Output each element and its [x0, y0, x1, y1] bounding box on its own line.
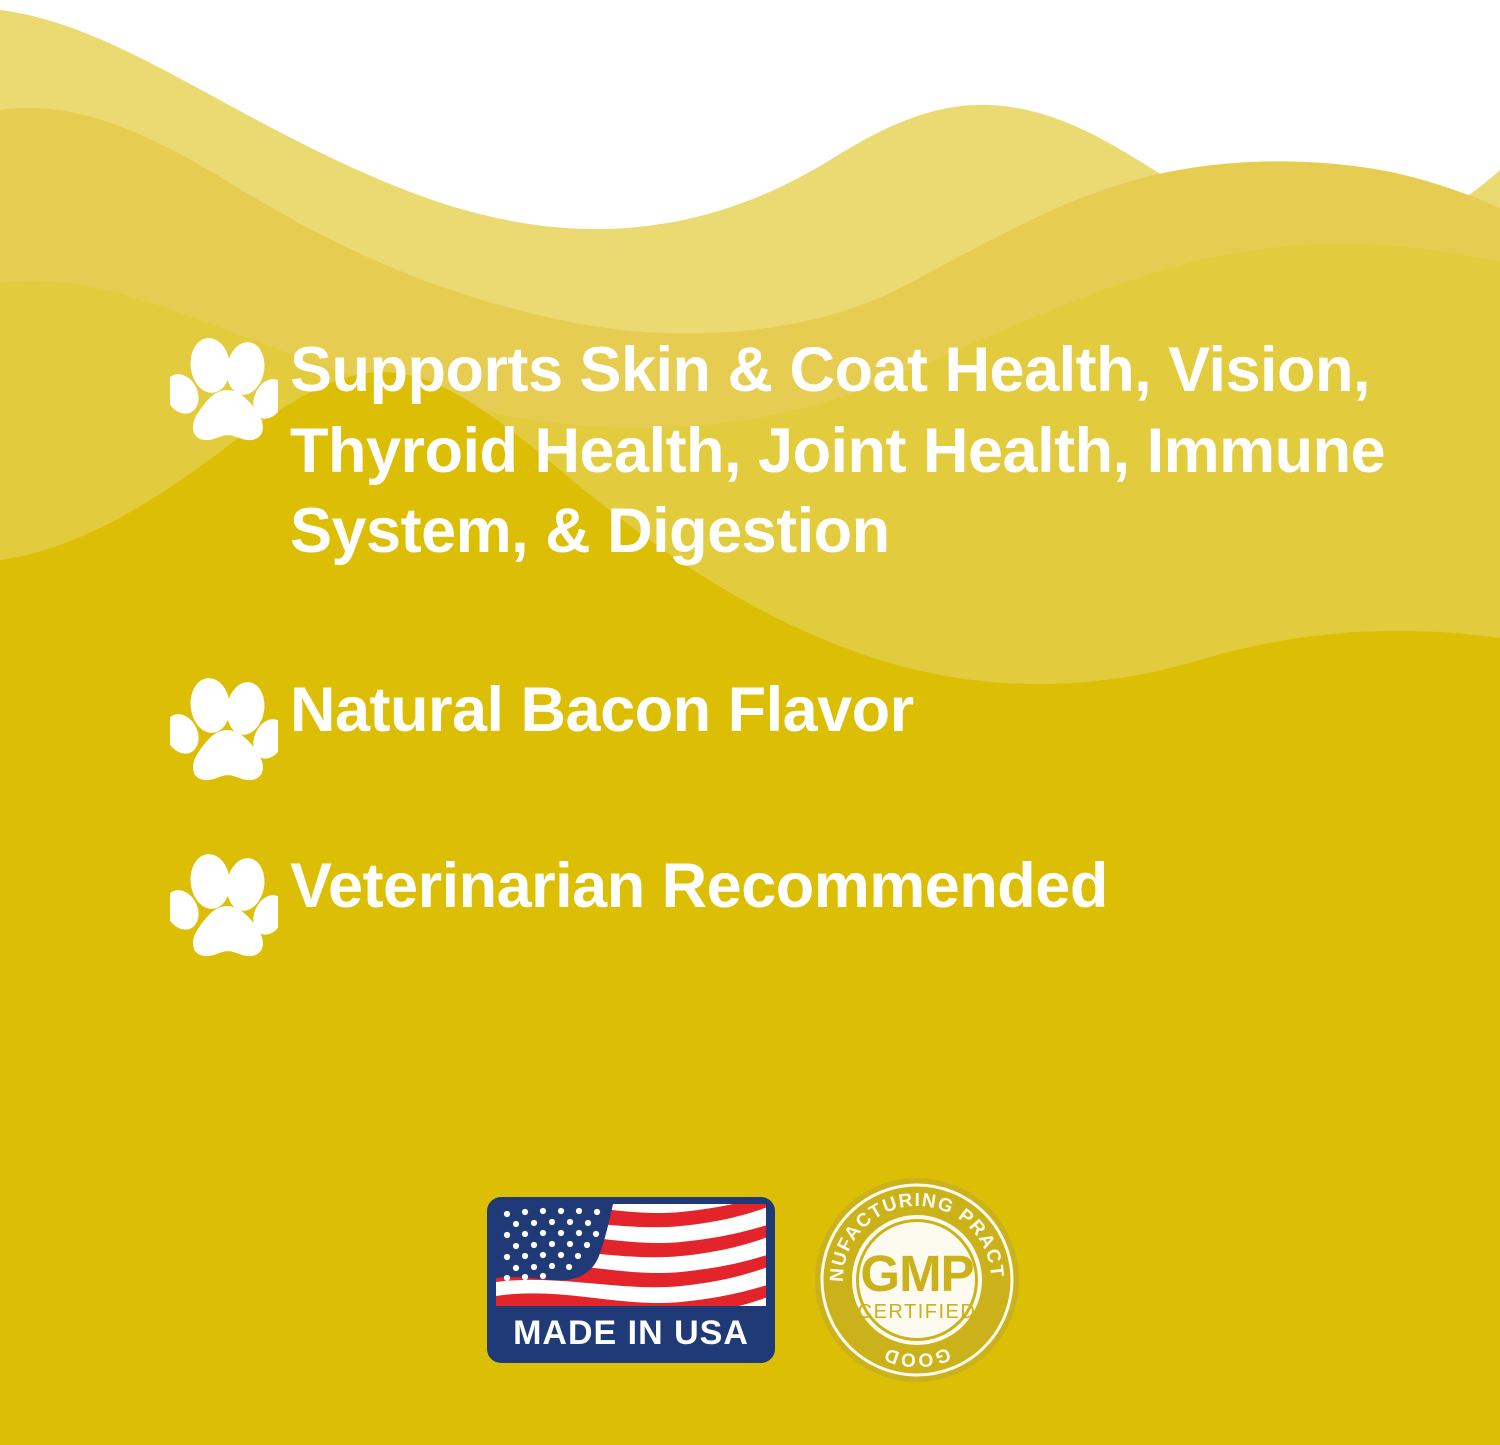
- flag-graphic: [496, 1192, 771, 1317]
- certification-badge-row: MADE IN USA MA: [0, 1178, 1500, 1382]
- paw-print-icon: [170, 338, 278, 442]
- feature-bullet-text: Natural Bacon Flavor: [290, 670, 1400, 751]
- feature-bullet-item: Supports Skin & Coat Health, Vision, Thy…: [170, 330, 1400, 572]
- paw-icon-cell: [170, 670, 290, 782]
- feature-bullet-item: Natural Bacon Flavor: [170, 670, 1400, 782]
- feature-bullet-item: Veterinarian Recommended: [170, 846, 1400, 958]
- paw-print-icon: [170, 678, 278, 782]
- paw-print-icon: [170, 854, 278, 958]
- paw-icon-cell: [170, 330, 290, 442]
- made-in-usa-label: MADE IN USA: [513, 1314, 749, 1352]
- feature-bullet-text: Supports Skin & Coat Health, Vision, Thy…: [290, 330, 1400, 572]
- product-feature-panel: Supports Skin & Coat Health, Vision, Thy…: [0, 0, 1500, 1445]
- paw-icon-cell: [170, 846, 290, 958]
- seal-sub-text: CERTIFIED: [858, 1301, 977, 1323]
- made-in-usa-flag-badge: MADE IN USA: [481, 1192, 781, 1368]
- gmp-certified-seal: MANUFACTURING PRACTICE GOOD GMP CERTIFIE…: [815, 1178, 1019, 1382]
- feature-bullet-list: Supports Skin & Coat Health, Vision, Thy…: [170, 330, 1400, 958]
- feature-bullet-text: Veterinarian Recommended: [290, 846, 1400, 927]
- seal-center-text: GMP: [860, 1245, 973, 1302]
